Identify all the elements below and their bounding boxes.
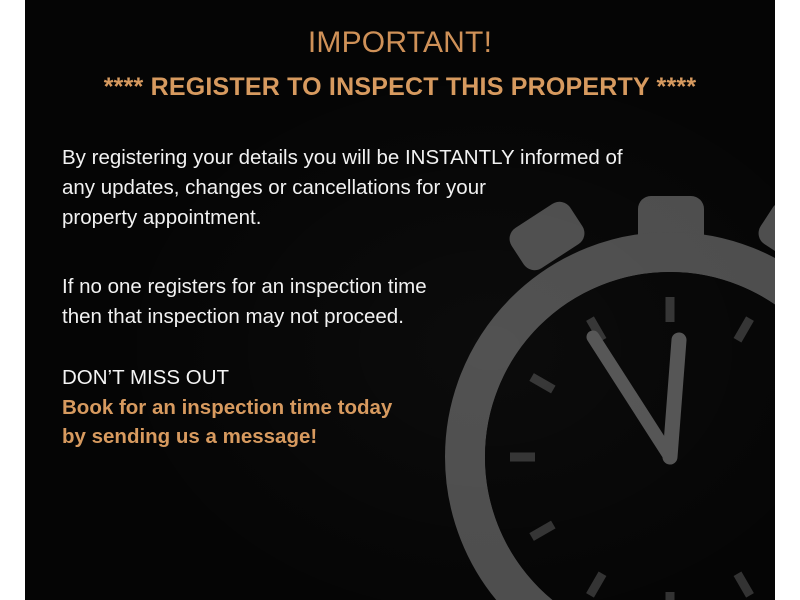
cta-block: DON’T MISS OUT Book for an inspection ti… (62, 363, 722, 451)
paragraph-warning-wrap: If no one registers for an inspection ti… (62, 272, 722, 332)
slide-canvas: IMPORTANT! **** REGISTER TO INSPECT THIS… (0, 0, 800, 600)
headline-register: **** REGISTER TO INSPECT THIS PROPERTY *… (25, 70, 775, 104)
headline-important: IMPORTANT! (25, 24, 775, 62)
headline-block: IMPORTANT! **** REGISTER TO INSPECT THIS… (25, 24, 775, 104)
cta-lead-line: DON’T MISS OUT (62, 363, 722, 393)
paragraph-warning: If no one registers for an inspection ti… (62, 272, 722, 332)
text-content: IMPORTANT! **** REGISTER TO INSPECT THIS… (25, 0, 775, 600)
cta-highlight-lines: Book for an inspection time today by sen… (62, 393, 722, 451)
paragraph-intro-wrap: By registering your details you will be … (62, 143, 722, 233)
black-panel: IMPORTANT! **** REGISTER TO INSPECT THIS… (25, 0, 775, 600)
paragraph-intro: By registering your details you will be … (62, 143, 722, 233)
